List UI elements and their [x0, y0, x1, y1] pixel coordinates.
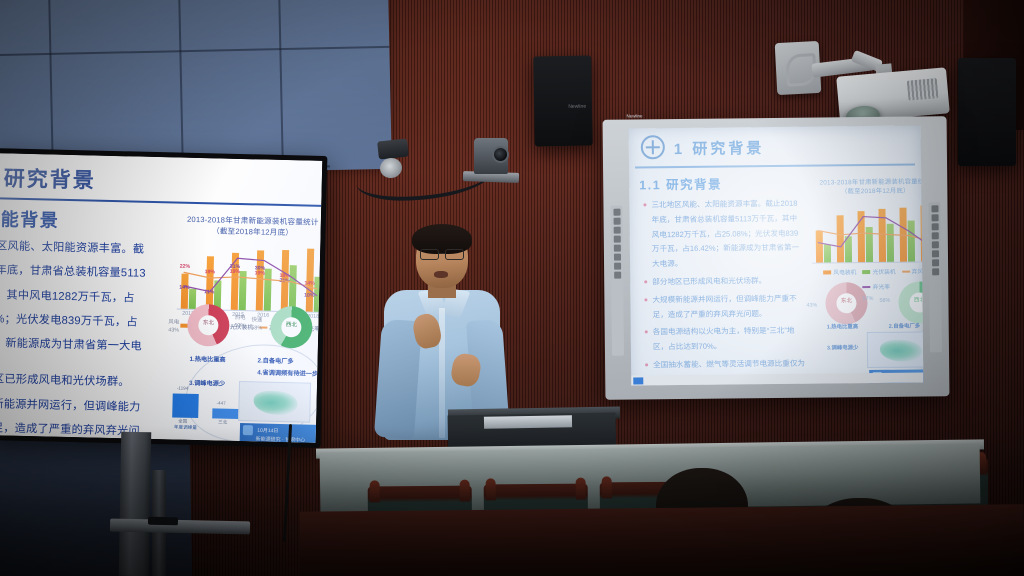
eraser-icon[interactable] — [613, 227, 620, 234]
legend-item: 风电装机 — [823, 267, 856, 276]
slide-line: 年底，甘肃省总装机容量5113 — [0, 262, 176, 286]
donut-chart-row: 东北 风电 43% 热电 57% 西北 快速 58% 自备 42% — [168, 297, 323, 359]
page-number-badge — [633, 377, 643, 384]
line-label-solar-curtailment: 31% — [230, 264, 241, 270]
note-item: 1.热电比重高 — [189, 354, 257, 367]
whiteboard-screen[interactable]: 1 研究背景 1.1 研究背景 三北地区风能、太阳能资源丰富。截止2018年底，… — [629, 125, 924, 385]
bar-solar — [908, 220, 915, 261]
slide-body-text: 区风能、太阳能资源丰富。截 年底，甘肃省总装机容量5113 ，其中风电1282万… — [0, 237, 176, 443]
legend-swatch — [902, 271, 910, 273]
presenter-mouth — [434, 271, 448, 278]
whiteboard-toolbar-left[interactable] — [610, 206, 624, 356]
bar-group — [899, 207, 915, 261]
speaker-brand-label: Newline — [568, 104, 586, 110]
bar-wind — [920, 206, 923, 261]
volume-down-icon[interactable] — [931, 232, 938, 239]
bullet-list: 三北地区风能、太阳能资源丰富。截止2018年底，甘肃省总装机容量5113万千瓦，… — [643, 197, 805, 386]
cable-wall-plate — [377, 138, 409, 159]
line-label-solar-curtailment: 10% — [304, 293, 315, 299]
bar-wind — [878, 209, 886, 262]
slide-footer-badge: 10月14日 新能源研究 · 甘肃中心 — [240, 423, 320, 443]
bar-wind — [837, 215, 844, 262]
legend-item: 光伏装机 — [862, 266, 895, 275]
section-title: 1 研究背景 — [674, 137, 765, 159]
line-label-wind-curtailment: 19% — [205, 270, 216, 276]
bar-wind — [899, 207, 907, 261]
input-icon[interactable] — [931, 214, 938, 221]
line-label-solar-curtailment: 11% — [204, 289, 214, 295]
slide-line: ；新能源成为甘肃省第一大电 — [0, 334, 174, 358]
donut-center-label: 西北 — [270, 320, 312, 329]
remote-control[interactable] — [148, 517, 178, 526]
shirt-placket — [439, 308, 445, 438]
slide-line: 新能源并网运行，但调峰能力 — [0, 395, 173, 419]
whiteboard-brand-label: Newline — [626, 113, 642, 118]
camera-lens-icon — [492, 146, 509, 163]
front-desk-wood — [300, 504, 1024, 576]
section-subtitle: 1.1 研究背景 — [639, 174, 722, 194]
capacity-bar-chart-projected: 2013-2018年甘肃新能源装机容量统计 （截至2018年12月底） 风电装机… — [811, 177, 923, 291]
chart-bars — [811, 202, 923, 263]
mini-bar-chart: -1194 -447 全国 三北 年度调峰量 — [168, 385, 249, 427]
donut-center-label: 东北 — [187, 318, 229, 327]
bar-group — [837, 215, 852, 262]
home-icon[interactable] — [931, 250, 938, 257]
slide-line: 区风能、太阳能资源丰富。截 — [0, 237, 176, 261]
bar-group — [920, 206, 923, 261]
bullet-item: 各国电源结构以火电为主，特别是“三北”地区，占比达到70%。 — [645, 324, 805, 355]
capture-icon[interactable] — [614, 272, 621, 279]
mini-bar-value: -447 — [216, 400, 225, 405]
line-label-solar-curtailment: 30% — [255, 266, 266, 272]
bullet-item: 部分地区已形成风电和光伏场群。 — [644, 274, 804, 290]
wall-speaker-left: Newline — [533, 56, 593, 147]
save-icon[interactable] — [614, 263, 621, 270]
chart-subtitle: （截至2018年12月底） — [811, 187, 923, 198]
donut-slice-label: 自备 — [320, 317, 323, 324]
whiteboard-footer-bar — [631, 372, 923, 385]
exit-icon[interactable] — [932, 268, 939, 275]
donut-slice-label: 快速 — [251, 317, 262, 324]
settings-icon[interactable] — [932, 259, 939, 266]
whiteboard-toolbar-right[interactable] — [928, 202, 942, 352]
title-rule — [635, 164, 915, 169]
badge-line2: 新能源研究 · 甘肃中心 — [256, 435, 306, 442]
pen-icon[interactable] — [613, 218, 620, 225]
slide-line: 区已形成风电和光伏场群。 — [0, 371, 173, 395]
badge-icon — [243, 425, 253, 435]
donut-northeast: 东北 风电 43% 热电 57% — [168, 297, 246, 357]
bar-wind — [816, 231, 823, 262]
line-label-wind-curtailment: 22% — [180, 264, 191, 270]
right-slide: 1 研究背景 1.1 研究背景 三北地区风能、太阳能资源丰富。截止2018年底，… — [629, 125, 924, 385]
donut-slice-value: 42% — [319, 325, 322, 332]
tv-stand-column — [119, 432, 152, 576]
lecture-hall-scene: Newline 研究背景 能背景 区风能、太阳能资源丰富。截 年底，甘肃省总装机… — [0, 0, 1024, 576]
tv-screen[interactable]: 研究背景 能背景 区风能、太阳能资源丰富。截 年底，甘肃省总装机容量5113 ，… — [0, 153, 322, 443]
wheeled-lcd-display[interactable]: 研究背景 能背景 区风能、太阳能资源丰富。截 年底，甘肃省总装机容量5113 ，… — [0, 148, 327, 448]
mini-bar — [212, 408, 238, 419]
donut-slice-value: 58% — [879, 298, 890, 305]
slide-line: ，其中风电1282万千瓦，占 — [0, 286, 175, 310]
mini-bar-value: -1194 — [177, 386, 189, 391]
mini-bar-legend: 年度调峰量 — [174, 424, 197, 431]
presenter — [378, 228, 506, 434]
china-map-thumbnail-projected — [867, 331, 924, 368]
bar-solar — [887, 224, 894, 261]
lectern-monitor[interactable] — [484, 415, 572, 429]
bar-group — [878, 209, 894, 262]
bar-group — [816, 231, 831, 262]
eyeglasses-icon — [419, 249, 465, 259]
shape-icon[interactable] — [613, 236, 620, 243]
wall-speaker-right — [958, 58, 1016, 166]
donut-northwest: 西北 快速 58% 自备 42% — [251, 299, 323, 359]
donut-center-label: 东北 — [825, 296, 867, 304]
volume-up-icon[interactable] — [931, 223, 938, 230]
slide-title: 研究背景 — [3, 162, 96, 194]
legend-item: 弃风率 — [902, 266, 924, 275]
map-shape — [880, 339, 922, 361]
line-label-wind-curtailment: 14% — [304, 281, 315, 287]
undo-icon[interactable] — [613, 254, 620, 261]
badge-line1: 10月14日 — [257, 428, 278, 434]
donut-center-label: 西北 — [898, 295, 923, 303]
menu-icon[interactable] — [613, 209, 620, 216]
slide-subtitle: 能背景 — [1, 205, 60, 232]
line-label-solar-curtailment: 21% — [279, 278, 290, 284]
note-item: 2.自备电厂多 — [889, 321, 924, 332]
bar-group — [858, 211, 874, 262]
select-icon[interactable] — [613, 245, 620, 252]
bullet-item: 大规模新能源并网运行，但调峰能力严重不足，造成了严重的弃风弃光问题。 — [644, 291, 804, 322]
map-shape — [253, 390, 298, 415]
donut-slice-label: 风电 — [168, 319, 179, 326]
bar-solar — [845, 237, 852, 262]
institution-logo-icon — [641, 135, 665, 159]
donut-slice-value: 43% — [168, 327, 179, 334]
mini-bar — [172, 393, 199, 418]
donut-slice-value: 57% — [234, 323, 245, 330]
china-map-thumbnail — [238, 381, 311, 423]
donut-slice-value: 58% — [251, 325, 262, 332]
donut-slice-label: 热电 — [235, 315, 246, 322]
bar-solar — [824, 244, 831, 262]
donut-slice-value: 43% — [806, 303, 817, 310]
legend-swatch — [862, 270, 870, 274]
slide-line: %；光伏发电839万千瓦，占 — [0, 310, 175, 334]
legend-swatch — [823, 270, 831, 274]
left-slide: 研究背景 能背景 区风能、太阳能资源丰富。截 年底，甘肃省总装机容量5113 ，… — [0, 153, 322, 443]
bullet-item: 三北地区风能、太阳能资源丰富。截止2018年底，甘肃省总装机容量5113万千瓦，… — [643, 197, 804, 273]
bar-solar — [866, 227, 873, 262]
mini-bar-x-label: 三北 — [218, 420, 227, 426]
line-label-solar-curtailment: 14% — [179, 284, 190, 290]
bar-wind — [858, 211, 866, 261]
interactive-whiteboard[interactable]: Newline 1 研究背景 1.1 研究背景 三北地区风能、太阳能资源丰富。截… — [603, 116, 950, 400]
power-icon[interactable] — [931, 205, 938, 212]
freeze-icon[interactable] — [931, 241, 938, 248]
